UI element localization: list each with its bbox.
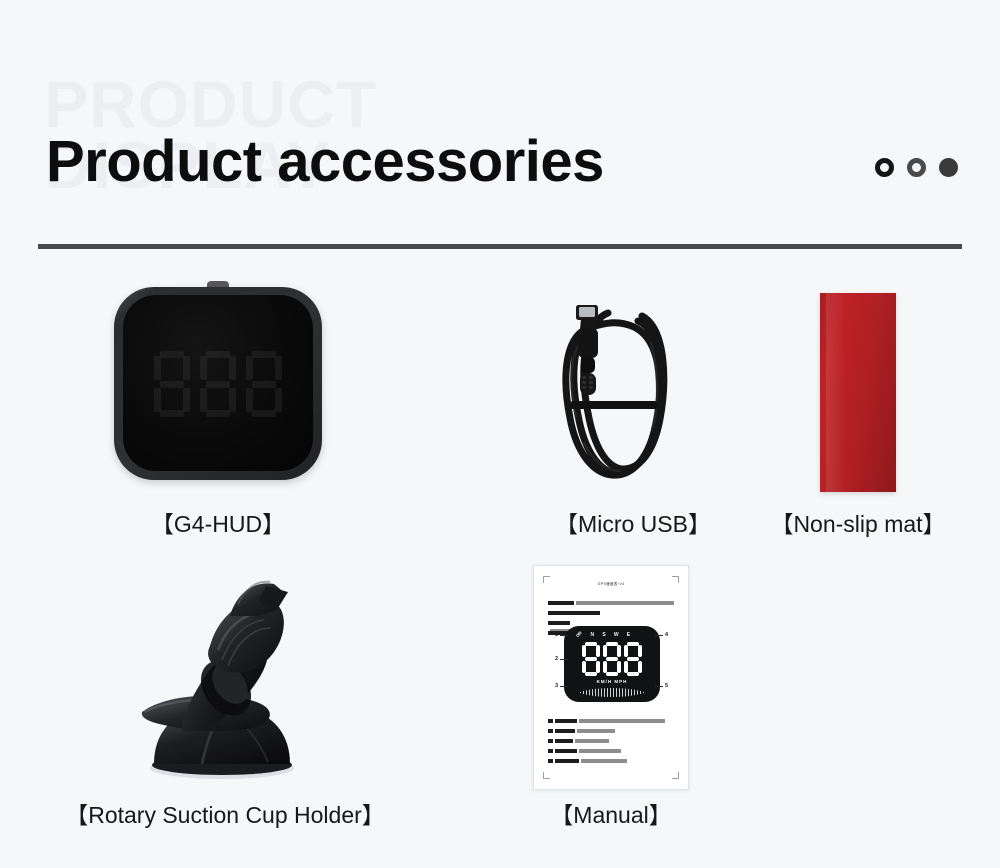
- manual-digit-3: [624, 642, 642, 676]
- manual-speed-arc: [574, 688, 650, 697]
- mat-sheen: [826, 293, 846, 492]
- manual-device-illustration: N S W E KM/H MPH: [564, 626, 660, 702]
- pagination-dot-3[interactable]: [939, 158, 958, 177]
- suction-cup-holder-svg: [118, 572, 333, 787]
- manual-body-line-1: [548, 594, 676, 598]
- caption-non-slip-mat: 【Non-slip mat】: [753, 505, 963, 539]
- hud-digit-3: [246, 351, 282, 417]
- suction-cup-holder-image: [118, 572, 333, 787]
- hud-screen-digits: [123, 345, 313, 423]
- product-accessories-page: PRODUCT DISPLAY Product accessories: [0, 0, 1000, 868]
- hud-device-image: [114, 281, 322, 481]
- hud-digit-1: [154, 351, 190, 417]
- hud-device-screen: [123, 295, 313, 471]
- page-title: Product accessories: [46, 128, 604, 195]
- manual-callout-2: 2: [555, 656, 558, 662]
- watermark-line-1: PRODUCT: [44, 74, 377, 135]
- manual-list-item-5: [548, 752, 676, 756]
- manual-instruction-list: [548, 712, 676, 762]
- manual-digits: [564, 642, 660, 678]
- manual-digit-2: [603, 642, 621, 676]
- manual-callout-5: 5: [665, 683, 668, 689]
- manual-callout-1: 1: [555, 632, 558, 638]
- usb-connector-head: [576, 305, 598, 395]
- cable-tie: [570, 401, 658, 409]
- hud-digit-2: [200, 351, 236, 417]
- crop-mark-bottom-left: [543, 772, 550, 779]
- caption-g4-hud: 【G4-HUD】: [114, 505, 322, 539]
- manual-list-item-4: [548, 742, 676, 746]
- hud-device-body: [114, 287, 322, 480]
- pagination-dots[interactable]: [875, 158, 958, 177]
- manual-sheet-image: GPS速度表·V4 N S W E: [533, 565, 689, 790]
- manual-units-label: KM/H MPH: [564, 679, 660, 684]
- manual-heading: GPS速度表·V4: [534, 582, 688, 587]
- usb-cable-image: [548, 283, 718, 488]
- pagination-dot-2[interactable]: [907, 158, 926, 177]
- manual-body-line-3: [548, 614, 676, 618]
- manual-callout-4: 4: [665, 632, 668, 638]
- manual-list-item-1: [548, 712, 676, 716]
- usb-cable-svg: [548, 283, 718, 488]
- page-header: PRODUCT DISPLAY Product accessories: [0, 0, 1000, 250]
- header-divider: [38, 244, 962, 249]
- caption-micro-usb: 【Micro USB】: [528, 505, 738, 539]
- caption-manual: 【Manual】: [506, 796, 716, 830]
- non-slip-mat-image: [820, 293, 896, 492]
- manual-digit-1: [582, 642, 600, 676]
- crop-mark-bottom-right: [672, 772, 679, 779]
- pagination-dot-1[interactable]: [875, 158, 894, 177]
- manual-callout-3: 3: [555, 683, 558, 689]
- caption-suction-cup-holder: 【Rotary Suction Cup Holder】: [38, 796, 412, 830]
- manual-compass-letters: N S W E: [564, 632, 660, 638]
- manual-body-line-2: [548, 604, 676, 608]
